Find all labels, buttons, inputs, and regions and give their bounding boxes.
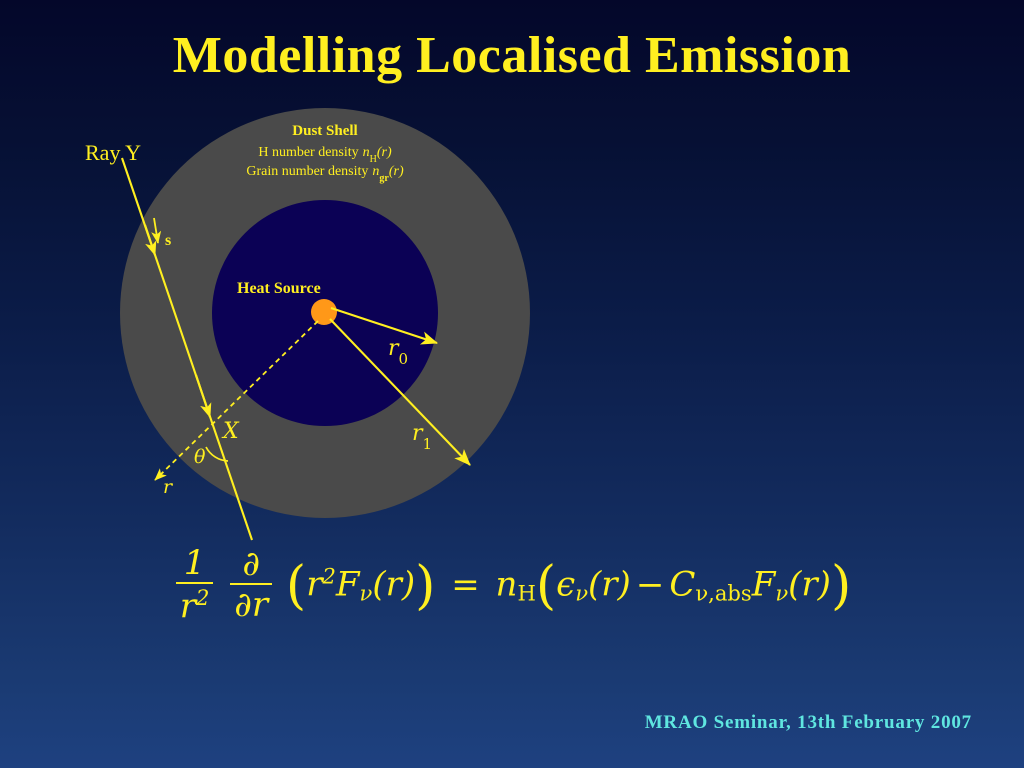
absorption-cross-section-symbol: C — [669, 565, 695, 605]
flux-2-nu-subscript: ν — [775, 580, 788, 605]
emissivity-symbol: ϵ — [556, 565, 575, 605]
left-paren-1: ( — [286, 560, 306, 612]
emissivity-argument: (r) — [588, 565, 631, 605]
path-length-s-label: s — [165, 232, 171, 249]
minus-sign: − — [636, 565, 665, 605]
radiative-transfer-equation: 1 r2 ∂ ∂r (r2Fν(r)) = nH(ϵν(r)−Cν,absFν(… — [0, 548, 1024, 625]
flux-argument: (r) — [372, 565, 415, 605]
partial-derivative-fraction: ∂ ∂r — [230, 547, 272, 622]
partial-denominator: ∂r — [230, 585, 272, 622]
absorption-subscript: ν,abs — [695, 580, 751, 605]
r-exponent: 2 — [322, 563, 335, 588]
page-title: Modelling Localised Emission — [0, 27, 1024, 84]
dust-shell-label: Dust Shell — [292, 123, 357, 139]
ray-y-label: Ray Y — [85, 140, 141, 165]
left-paren-2: ( — [536, 560, 556, 612]
presentation-slide: Modelling Localised Emission — [0, 0, 1024, 768]
equals-sign: = — [451, 565, 480, 605]
right-paren-1: ) — [415, 560, 435, 612]
fraction-denominator: r2 — [176, 584, 214, 623]
theta-label: θ — [194, 446, 206, 468]
one-over-r-squared-fraction: 1 r2 — [176, 546, 214, 623]
diagram-svg: Dust Shell H number densitynH(r) Grain n… — [0, 95, 1024, 555]
flux-2-argument: (r) — [788, 565, 831, 605]
fraction-numerator: 1 — [176, 546, 214, 584]
flux-symbol-2: F — [752, 565, 776, 605]
dust-shell-diagram: Dust Shell H number densitynH(r) Grain n… — [0, 95, 1024, 555]
point-x-label: X — [221, 419, 240, 444]
r-term: r — [306, 565, 322, 605]
radius-vector-label: r — [163, 476, 174, 498]
right-paren-2: ) — [831, 560, 851, 612]
partial-numerator: ∂ — [230, 547, 272, 585]
number-density-symbol: n — [496, 565, 518, 605]
slide-footer: MRAO Seminar, 13th February 2007 — [645, 712, 972, 734]
flux-symbol: F — [336, 565, 360, 605]
number-density-subscript: H — [517, 580, 535, 605]
heat-source-label: Heat Source — [237, 280, 321, 297]
emissivity-nu-subscript: ν — [575, 580, 588, 605]
equation-expression: 1 r2 ∂ ∂r (r2Fν(r)) = nH(ϵν(r)−Cν,absFν(… — [173, 548, 851, 625]
flux-nu-subscript: ν — [360, 580, 373, 605]
